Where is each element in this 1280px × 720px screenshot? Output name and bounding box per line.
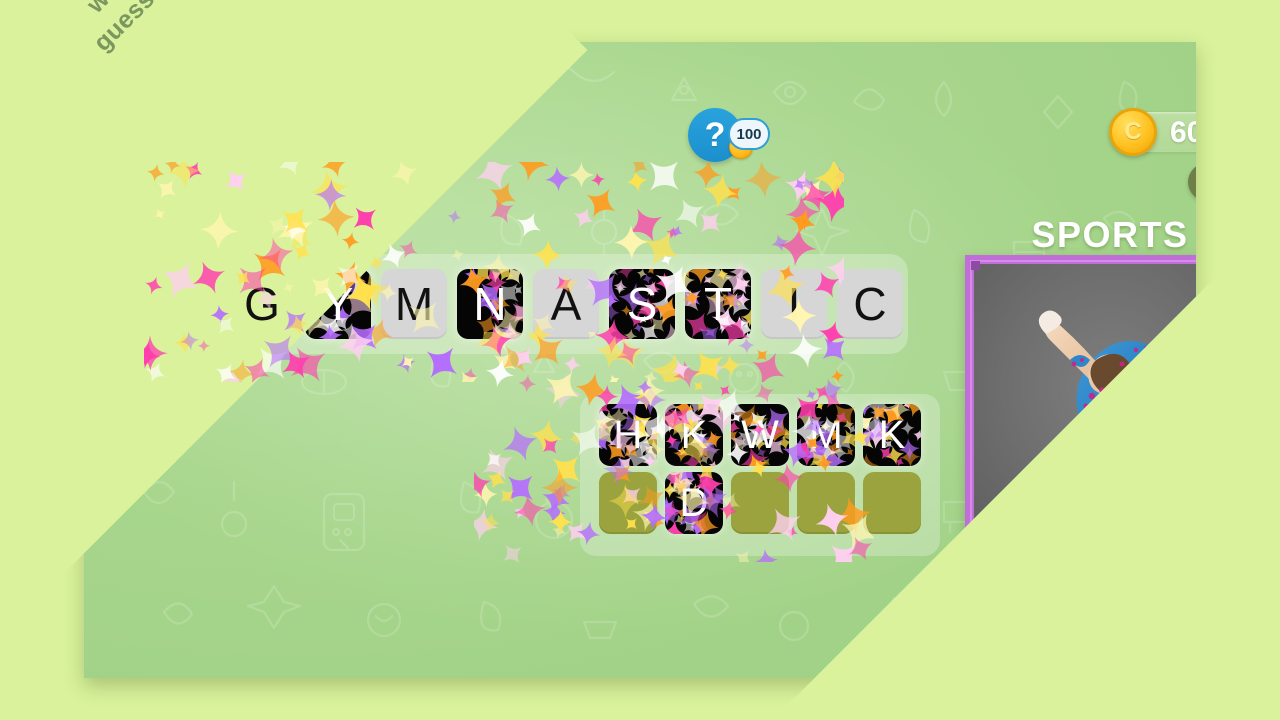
bank-tile-row1-4[interactable]: M <box>797 404 855 466</box>
word-tile-letter: N <box>473 281 506 327</box>
frame-tack-icon <box>971 530 980 539</box>
letter-bank-row: HKWMK <box>592 404 928 466</box>
puzzle-image-frame <box>965 255 1196 545</box>
bank-tile-row1-1[interactable]: H <box>599 404 657 466</box>
bank-tile-letter: W <box>741 415 779 455</box>
game-panel: ? 100 C 60 ❮ MODE SPORTS <box>84 42 1196 678</box>
word-tile-letter: A <box>551 281 582 327</box>
bank-tile-row2-4[interactable] <box>797 472 855 534</box>
word-tile-letter: S <box>627 281 658 327</box>
word-tile-letter: C <box>853 281 886 327</box>
coin-c-glyph: C <box>1124 120 1141 144</box>
word-tile-letter: M <box>395 281 433 327</box>
bank-tile-row1-3[interactable]: W <box>731 404 789 466</box>
frame-tack-icon <box>971 261 980 270</box>
bank-tile-row2-5[interactable] <box>863 472 921 534</box>
letter-bank-row: D <box>592 472 928 534</box>
bank-tile-letter: H <box>614 415 643 455</box>
word-tile-9[interactable]: C <box>837 269 903 339</box>
gold-coin-icon: C <box>1109 108 1157 156</box>
word-tile-1[interactable]: G <box>229 269 295 339</box>
category-title: SPORTS <box>964 214 1196 256</box>
word-tile-letter: Y <box>323 281 354 327</box>
word-tile-8[interactable]: I <box>761 269 827 339</box>
bank-tile-letter: M <box>809 415 842 455</box>
bank-tile-row2-2[interactable]: D <box>665 472 723 534</box>
bank-tile-row2-1[interactable] <box>599 472 657 534</box>
puzzle-image <box>974 264 1196 536</box>
word-tile-2[interactable]: Y <box>305 269 371 339</box>
bank-tile-letter: K <box>879 415 906 455</box>
bank-tile-row1-2[interactable]: K <box>665 404 723 466</box>
coin-count: 60 <box>1170 116 1196 150</box>
word-tile-3[interactable]: M <box>381 269 447 339</box>
bank-tile-letter: K <box>681 415 708 455</box>
question-mark-icon: ? <box>705 118 726 152</box>
refresh-icon <box>1187 579 1196 623</box>
game-screen: ? 100 C 60 ❮ MODE SPORTS <box>0 0 1280 720</box>
word-tile-4[interactable]: N <box>457 269 523 339</box>
letter-bank-panel: HKWMK D <box>580 394 940 556</box>
word-tile-7[interactable]: T <box>685 269 751 339</box>
hint-cost-badge[interactable]: 100 <box>728 118 770 150</box>
word-tile-6[interactable]: S <box>609 269 675 339</box>
word-tile-letter: T <box>704 281 732 327</box>
bank-tile-row2-3[interactable] <box>731 472 789 534</box>
bank-tile-letter: D <box>680 483 709 523</box>
word-tile-letter: I <box>788 281 801 327</box>
word-tile-letter: G <box>244 281 280 327</box>
word-answer-row: GYMNASTIC <box>216 254 908 354</box>
word-tile-5[interactable]: A <box>533 269 599 339</box>
bank-tile-row1-5[interactable]: K <box>863 404 921 466</box>
